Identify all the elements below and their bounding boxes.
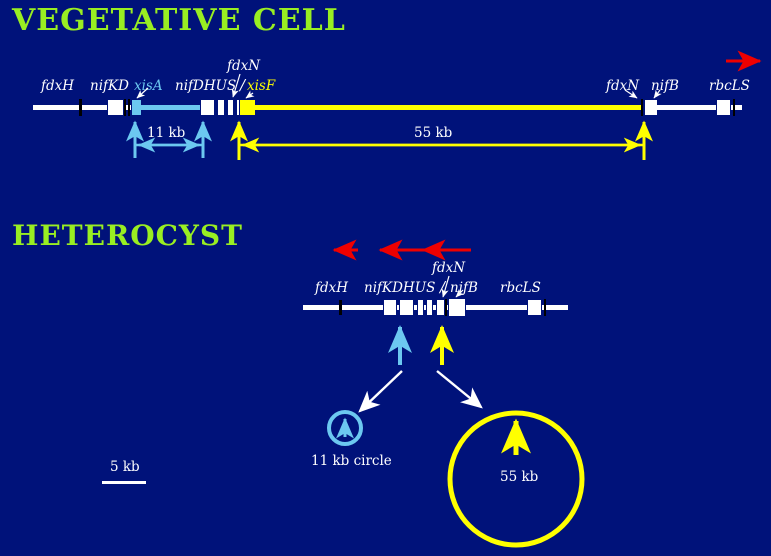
gene-label-xisa-vegetative: xisA xyxy=(134,80,163,94)
gene-label-separator-vegetative: / xyxy=(240,78,245,93)
site-tick-fdxh-heterocyst xyxy=(339,300,342,315)
scale-bar-line xyxy=(102,481,146,484)
gene-box-rbcls-heterocyst xyxy=(527,299,542,316)
gene-label-nifb-heterocyst: nifB xyxy=(450,282,478,296)
site-tick-b-vegetative xyxy=(128,99,130,116)
gene-box-nifk-heterocyst xyxy=(383,299,397,316)
site-tick-a-vegetative xyxy=(124,99,126,116)
excised-circle-11kb xyxy=(329,412,361,444)
gene-box-nifh-heterocyst xyxy=(417,299,424,316)
site-tick-fdxh-vegetative xyxy=(79,99,82,116)
pointer-arrow-to-55kb-circle xyxy=(437,371,481,407)
gene-label-fdxn-heterocyst: fdxN xyxy=(432,262,465,276)
gene-box-xisf-vegetative xyxy=(239,99,256,116)
gene-label-fdxn-vegetative-left: fdxN xyxy=(227,60,260,74)
gene-box-nifh-vegetative xyxy=(217,99,225,116)
gene-label-separator-heterocyst: / xyxy=(440,280,445,295)
gene-label-fdxh-vegetative: fdxH xyxy=(41,80,74,94)
gene-box-nifb-vegetative xyxy=(644,99,658,116)
gene-label-nifkdhus-heterocyst: nifKDHUS xyxy=(364,282,435,296)
gene-box-nifd-heterocyst xyxy=(399,299,414,316)
gene-box-nifs-heterocyst xyxy=(436,299,445,316)
gene-label-nifkd-vegetative: nifKD xyxy=(90,80,129,94)
pointer-arrow-to-11kb-circle xyxy=(360,371,402,411)
scale-bar-label: 5 kb xyxy=(110,461,140,475)
section-title-vegetative: VEGETATIVE CELL xyxy=(12,6,346,36)
gene-label-fdxh-heterocyst: fdxH xyxy=(315,282,348,296)
site-tick-rbcls-heterocyst xyxy=(544,299,546,316)
chromosome-segment-blue-11kb-vegetative xyxy=(141,105,207,110)
site-tick-d-vegetative xyxy=(641,99,643,116)
gene-box-nifkd-vegetative xyxy=(107,99,124,116)
gene-box-nifu-heterocyst xyxy=(426,299,433,316)
gene-box-nifd-vegetative xyxy=(200,99,215,116)
gene-box-nifu-vegetative xyxy=(227,99,234,116)
site-tick-e-vegetative xyxy=(733,99,735,116)
measurement-label-55kb-vegetative: 55 kb xyxy=(414,127,452,141)
gene-box-rbcls-vegetative xyxy=(716,99,731,116)
excised-label-55kb-circle: 55 kb xyxy=(500,471,538,485)
site-tick-fdxn-heterocyst xyxy=(445,299,447,316)
gene-label-nifdhus-vegetative: nifDHUS xyxy=(175,80,236,94)
excised-label-11kb-circle: 11 kb circle xyxy=(311,455,392,469)
section-title-heterocyst: HETEROCYST xyxy=(12,222,243,250)
measurement-label-11kb-vegetative: 11 kb xyxy=(147,127,185,141)
gene-label-nifb-vegetative: nifB xyxy=(651,80,679,94)
gene-label-rbcls-vegetative: rbcLS xyxy=(709,80,750,94)
diagram-canvas: VEGETATIVE CELL fdxH nifKD xisA nifDHUS … xyxy=(0,0,771,556)
gene-box-nifb-heterocyst xyxy=(448,298,466,317)
gene-label-xisf-vegetative: xisF xyxy=(247,80,275,94)
gene-label-fdxn-vegetative-right: fdxN xyxy=(606,80,639,94)
chromosome-segment-yellow-55kb-vegetative xyxy=(255,105,642,110)
gene-label-rbcls-heterocyst: rbcLS xyxy=(500,282,541,296)
